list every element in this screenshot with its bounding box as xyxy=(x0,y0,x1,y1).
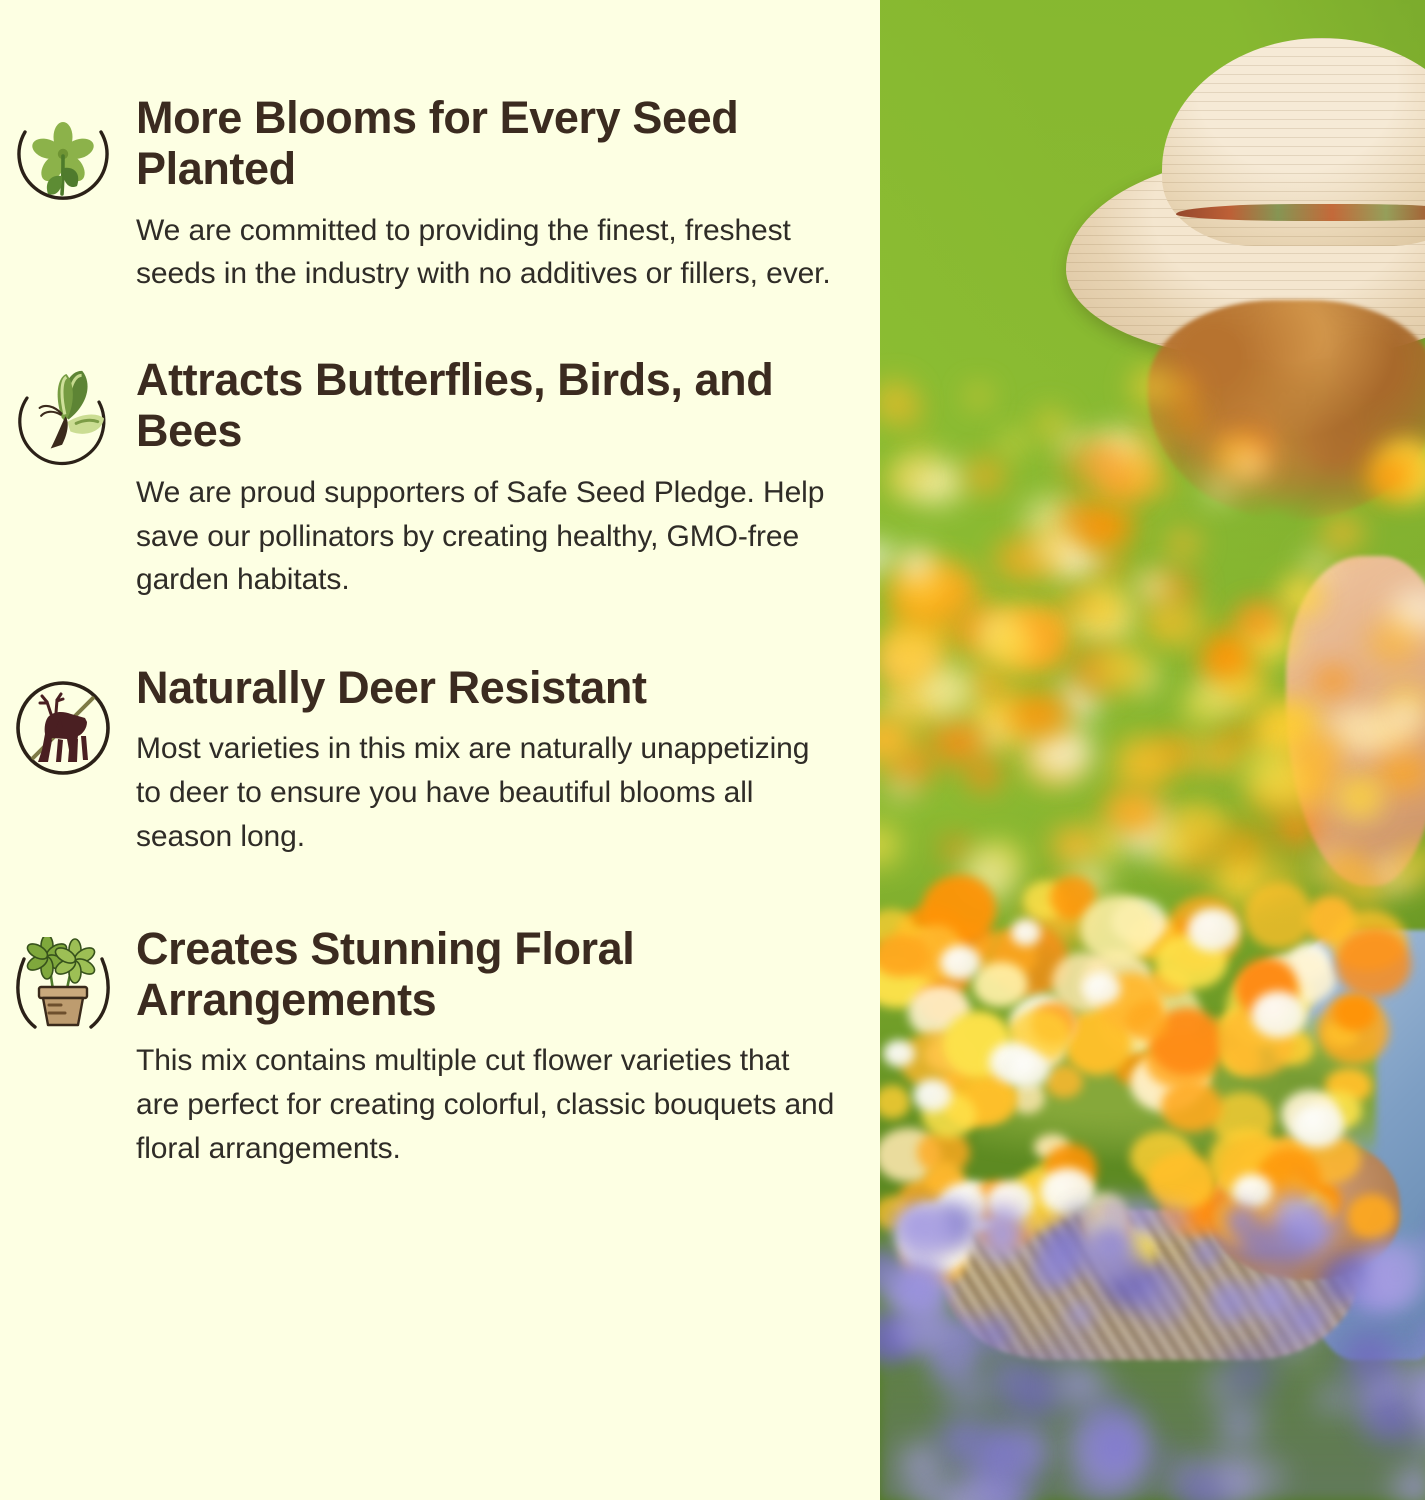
lavender-flower xyxy=(1067,1300,1093,1327)
bokeh-flower xyxy=(1280,577,1322,615)
lavender-flower xyxy=(1080,1223,1135,1284)
lavender-flower xyxy=(1225,1346,1275,1399)
bokeh-flower xyxy=(1135,573,1170,600)
bokeh-flower xyxy=(1347,784,1376,805)
lavender-flower xyxy=(909,1308,942,1342)
lavender-flower xyxy=(1285,1298,1328,1339)
white-poppy xyxy=(1040,1168,1095,1215)
bokeh-flower xyxy=(887,773,916,801)
lavender-flower xyxy=(1343,1332,1394,1384)
hat-band xyxy=(1176,204,1425,221)
features-column: More Blooms for Every Seed Planted We ar… xyxy=(0,0,880,1500)
feature-text: More Blooms for Every Seed Planted We ar… xyxy=(136,92,840,296)
poppy-bloom xyxy=(973,962,1028,1007)
bokeh-flower xyxy=(942,838,970,859)
lavender-flower xyxy=(1395,1469,1425,1500)
lavender-flower xyxy=(977,1315,1013,1354)
bokeh-flower xyxy=(1376,753,1425,792)
lavender-flower xyxy=(977,1205,1027,1262)
bokeh-flower xyxy=(1233,449,1265,479)
feature-heading: Creates Stunning Floral Arrangements xyxy=(136,923,840,1026)
bokeh-flower xyxy=(1136,421,1164,449)
bokeh-flower xyxy=(1239,607,1277,638)
bokeh-flower xyxy=(1214,641,1247,673)
lavender-flower xyxy=(1320,1385,1347,1411)
poppy-bloom xyxy=(1147,1152,1216,1210)
white-poppy xyxy=(1011,919,1042,945)
bokeh-flower xyxy=(968,458,1004,494)
bokeh-flower xyxy=(981,722,1008,748)
bokeh-flower xyxy=(1393,702,1421,726)
lavender-flower xyxy=(1088,1417,1144,1478)
white-poppy xyxy=(913,1079,952,1112)
bokeh-flower xyxy=(1035,408,1066,439)
feature-text: Creates Stunning Floral Arrangements Thi… xyxy=(136,923,840,1171)
lavender-flower xyxy=(1220,1403,1259,1446)
feature-text: Attracts Butterflies, Birds, and Bees We… xyxy=(136,354,840,602)
lavender-flower xyxy=(1286,1334,1312,1358)
lavender-flower xyxy=(1124,1197,1157,1234)
feature-body: We are proud supporters of Safe Seed Ple… xyxy=(136,471,836,602)
bokeh-flower xyxy=(1051,827,1099,864)
feature-body: This mix contains multiple cut flower va… xyxy=(136,1039,836,1170)
bokeh-flower xyxy=(1219,726,1252,751)
lavender-flower xyxy=(895,1206,956,1261)
photo-scene xyxy=(880,0,1425,1500)
bokeh-flower xyxy=(1166,528,1200,559)
lavender-flower xyxy=(985,1351,1028,1397)
poppy-bloom xyxy=(1347,1194,1396,1240)
lavender-flower xyxy=(1134,1269,1189,1324)
lavender-flower xyxy=(1069,1207,1092,1227)
lavender-flower xyxy=(1149,1449,1175,1471)
white-poppy xyxy=(1006,1051,1049,1088)
bokeh-flower xyxy=(1063,504,1091,528)
potted-flowers-icon xyxy=(8,933,118,1045)
feature-body: We are committed to providing the finest… xyxy=(136,209,836,297)
flower-sprout-icon xyxy=(8,102,118,214)
feature-body: Most varieties in this mix are naturally… xyxy=(136,727,836,858)
white-poppy xyxy=(1082,972,1121,1005)
bokeh-flower xyxy=(884,697,911,716)
product-feature-panel: More Blooms for Every Seed Planted We ar… xyxy=(0,0,1425,1500)
lavender-flower xyxy=(949,1376,988,1408)
bokeh-flower xyxy=(1012,691,1071,738)
bokeh-flower xyxy=(967,385,990,408)
bokeh-flower xyxy=(1146,607,1180,639)
bokeh-flower xyxy=(1296,736,1342,770)
bokeh-flower xyxy=(979,616,1042,668)
bokeh-flower xyxy=(1096,647,1150,689)
lavender-flower xyxy=(1156,1205,1191,1236)
white-poppy xyxy=(1292,1104,1343,1148)
lavender-flower xyxy=(950,1324,973,1349)
white-poppy xyxy=(1251,991,1306,1038)
lavender-flower xyxy=(1192,1239,1221,1268)
feature-item: Creates Stunning Floral Arrangements Thi… xyxy=(8,923,840,1171)
feature-text: Naturally Deer Resistant Most varieties … xyxy=(136,662,840,859)
bokeh-flower xyxy=(1062,445,1105,488)
white-poppy xyxy=(883,1040,915,1067)
bokeh-flower xyxy=(1174,802,1211,838)
bokeh-flower xyxy=(880,626,936,678)
bokeh-flower xyxy=(1001,431,1026,456)
lavender-flower xyxy=(1365,1397,1419,1442)
bokeh-flower xyxy=(1165,376,1195,406)
feature-item: Attracts Butterflies, Birds, and Bees We… xyxy=(8,354,840,602)
meadow-photo xyxy=(880,0,1425,1500)
bokeh-flower xyxy=(1112,737,1169,792)
poppy-bloom xyxy=(1045,1065,1083,1099)
lavender-flower xyxy=(1012,1451,1039,1475)
poppy-bloom xyxy=(1161,1081,1222,1132)
bokeh-flower xyxy=(1102,789,1164,835)
bokeh-flower xyxy=(1218,667,1269,709)
lavender-flower xyxy=(1055,1364,1105,1405)
bokeh-flower xyxy=(1242,744,1304,806)
bokeh-flower xyxy=(1348,874,1382,907)
lavender-flower xyxy=(972,1426,1023,1480)
poppy-bloom xyxy=(1336,929,1412,998)
bokeh-flower xyxy=(1261,712,1300,744)
feature-item: Naturally Deer Resistant Most varieties … xyxy=(8,662,840,859)
lavender-flower xyxy=(1268,1226,1314,1269)
lavender-flower xyxy=(1207,1278,1249,1324)
white-poppy xyxy=(1187,908,1239,952)
feature-heading: Naturally Deer Resistant xyxy=(136,662,840,713)
no-deer-icon xyxy=(8,672,118,784)
butterfly-icon xyxy=(8,364,118,476)
feature-heading: More Blooms for Every Seed Planted xyxy=(136,92,840,195)
lavender-flower xyxy=(1052,1338,1077,1358)
bokeh-flower xyxy=(884,461,919,496)
bokeh-flower xyxy=(1275,808,1318,848)
feature-item: More Blooms for Every Seed Planted We ar… xyxy=(8,92,840,296)
bokeh-flower xyxy=(1146,469,1177,500)
bokeh-flower xyxy=(1061,592,1090,613)
bokeh-flower xyxy=(1183,690,1223,723)
lavender-flower xyxy=(1366,1240,1425,1308)
bokeh-flower xyxy=(1322,517,1362,549)
feature-heading: Attracts Butterflies, Birds, and Bees xyxy=(136,354,840,457)
poppy-bloom xyxy=(1333,994,1376,1030)
poppy-bloom xyxy=(1244,882,1314,949)
bokeh-flower xyxy=(1316,669,1349,693)
bokeh-flower xyxy=(1033,538,1066,562)
